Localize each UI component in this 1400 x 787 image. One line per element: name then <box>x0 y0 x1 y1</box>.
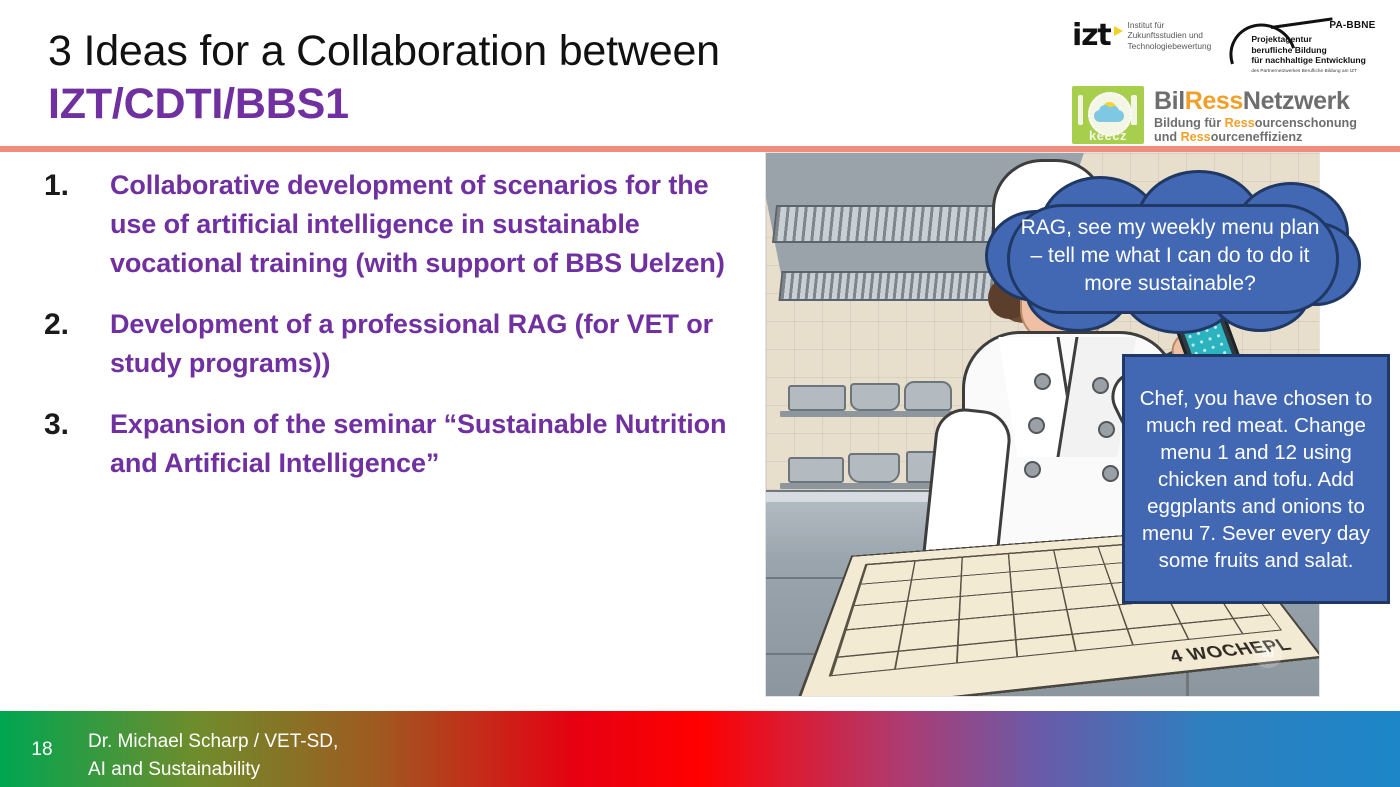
list-item-number: 1. <box>40 166 110 283</box>
footer-credit-line-2: AI and Sustainability <box>88 756 338 784</box>
bilress-logo: BilRessNetzwerk Bildung für Ressourcensc… <box>1154 86 1357 145</box>
tagline2-a: und <box>1154 130 1181 144</box>
answer-box: Chef, you have chosen to much red meat. … <box>1122 354 1390 604</box>
list-item-number: 3. <box>40 405 110 483</box>
logo-row-top: izt Institut für Zukunftsstudien und Tec… <box>1072 20 1379 90</box>
tagline1-a: Bildung für <box>1154 116 1225 130</box>
izt-triangle-icon <box>1114 26 1123 36</box>
bullet-list: 1. Collaborative development of scenario… <box>40 166 740 505</box>
keecz-logo: keecz <box>1072 86 1144 144</box>
izt-subtitle: Institut für Zukunftsstudien und Technol… <box>1128 20 1212 51</box>
tagline1-b: Ress <box>1225 116 1255 130</box>
izt-logo: izt Institut für Zukunftsstudien und Tec… <box>1072 20 1211 51</box>
title-line-2: IZT/CDTI/BBS1 <box>48 78 868 130</box>
pot-icon <box>850 383 900 411</box>
pa-bbne-line-2: berufliche Bildung <box>1251 45 1366 56</box>
ai-watermark: ai <box>1253 638 1283 668</box>
bilress-tagline: Bildung für Ressourcenschonung und Resso… <box>1154 116 1357 145</box>
pa-bbne-line-1: Projektagentur <box>1251 34 1366 45</box>
list-item-text: Development of a professional RAG (for V… <box>110 305 740 383</box>
page-title: 3 Ideas for a Collaboration between IZT/… <box>48 26 868 130</box>
tagline1-c: ourcenschonung <box>1255 116 1357 130</box>
pa-bbne-lines: Projektagentur berufliche Bildung für na… <box>1251 34 1366 66</box>
list-item: 2. Development of a professional RAG (fo… <box>40 305 740 383</box>
izt-subtitle-line-1: Institut für <box>1128 20 1212 30</box>
slide-footer: 18 Dr. Michael Scharp / VET-SD, AI and S… <box>0 711 1400 787</box>
list-item-number: 2. <box>40 305 110 383</box>
list-item-text: Expansion of the seminar “Sustainable Nu… <box>110 405 740 483</box>
speech-bubble-text: RAG, see my weekly menu plan – tell me w… <box>1015 196 1325 316</box>
izt-wordmark: izt <box>1072 21 1111 51</box>
chef-button <box>1028 417 1045 434</box>
pa-bbne-logo: PA-BBNE Projektagentur berufliche Bildun… <box>1227 20 1379 90</box>
bilress-part-1: Bil <box>1154 87 1185 115</box>
slide: 3 Ideas for a Collaboration between IZT/… <box>0 0 1400 787</box>
list-item: 3. Expansion of the seminar “Sustainable… <box>40 405 740 483</box>
speech-bubble: RAG, see my weekly menu plan – tell me w… <box>985 170 1355 330</box>
chef-button <box>1034 373 1051 390</box>
bilress-wordmark: BilRessNetzwerk <box>1154 88 1357 115</box>
bilress-tagline-line-2: und Ressourceneffizienz <box>1154 130 1357 144</box>
chef-button <box>1102 465 1119 482</box>
izt-subtitle-line-3: Technologiebewertung <box>1128 41 1212 51</box>
pa-bbne-fine-print: des Partnernetzwerkes Berufliche Bildung… <box>1251 68 1357 73</box>
cloud-icon <box>1094 110 1124 122</box>
stacked-plates-icon <box>788 385 846 411</box>
pa-bbne-line-3: für nachhaltige Entwicklung <box>1251 55 1366 66</box>
list-item: 1. Collaborative development of scenario… <box>40 166 740 283</box>
bilress-tagline-line-1: Bildung für Ressourcenschonung <box>1154 116 1357 130</box>
fork-icon <box>1078 95 1083 125</box>
footer-credit: Dr. Michael Scharp / VET-SD, AI and Sust… <box>88 728 338 784</box>
chef-button <box>1098 421 1115 438</box>
page-number: 18 <box>22 739 62 761</box>
answer-box-text: Chef, you have chosen to much red meat. … <box>1135 385 1377 574</box>
jug-icon <box>848 453 900 483</box>
bilress-part-2: Ress <box>1185 87 1243 115</box>
tagline2-b: Ress <box>1181 130 1211 144</box>
logo-row-bottom: keecz BilRessNetzwerk Bildung für Ressou… <box>1072 86 1357 145</box>
tray-icon <box>788 457 844 483</box>
chef-button <box>1024 461 1041 478</box>
arc-bar-icon <box>1271 17 1333 29</box>
title-line-1: 3 Ideas for a Collaboration between <box>48 26 868 76</box>
bilress-part-3: Netzwerk <box>1243 87 1350 115</box>
knife-icon <box>1131 95 1137 125</box>
keecz-wordmark: keecz <box>1072 128 1144 143</box>
tagline2-c: ourceneffizienz <box>1211 130 1303 144</box>
list-item-text: Collaborative development of scenarios f… <box>110 166 740 283</box>
logo-group: izt Institut für Zukunftsstudien und Tec… <box>1072 20 1392 146</box>
footer-credit-line-1: Dr. Michael Scharp / VET-SD, <box>88 728 338 756</box>
izt-subtitle-line-2: Zukunftsstudien und <box>1128 30 1212 40</box>
chef-button <box>1092 377 1109 394</box>
pa-bbne-acronym: PA-BBNE <box>1329 20 1375 31</box>
